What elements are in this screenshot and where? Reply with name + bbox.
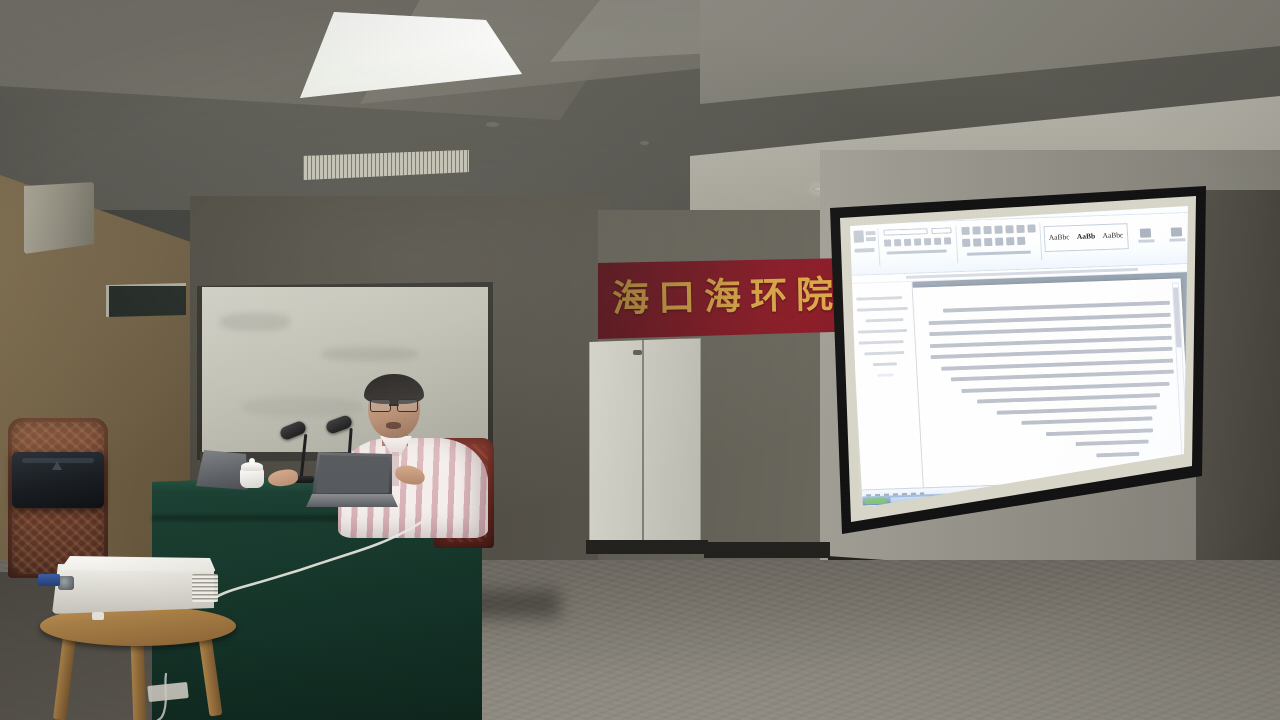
wall-far-right-dark	[1196, 190, 1280, 610]
smoke-detector-icon	[640, 141, 649, 145]
door-knob[interactable]	[633, 350, 642, 355]
ribbon-group-clipboard[interactable]	[849, 228, 880, 267]
style-item[interactable]: AaBbc	[1049, 233, 1070, 244]
navigation-pane[interactable]	[850, 282, 923, 490]
style-name	[1077, 242, 1095, 243]
ribbon-group-editing[interactable]	[1131, 219, 1191, 251]
wall-speaker	[24, 182, 94, 254]
wooden-stool	[40, 606, 236, 720]
style-item[interactable]: AaBbc	[1102, 231, 1123, 242]
system-tray[interactable]	[1173, 486, 1203, 493]
projector-vent	[192, 574, 218, 602]
conference-room-photo: 海口海环院环 境	[0, 0, 1280, 720]
laptop-bag	[12, 452, 104, 508]
word-window: AaBbc AaBb AaBbc	[846, 194, 1206, 506]
baseboard	[704, 542, 830, 558]
style-name	[1049, 243, 1070, 244]
select-button[interactable]	[1162, 219, 1191, 250]
projector-lens	[58, 576, 74, 590]
smoke-detector-icon	[486, 122, 499, 127]
document-workspace	[850, 272, 1205, 490]
zoom-slider[interactable]	[1166, 483, 1200, 488]
ribbon-group-paragraph[interactable]	[959, 222, 1042, 263]
document-page[interactable]	[913, 278, 1192, 487]
projection-screen: AaBbc AaBb AaBbc	[816, 186, 1206, 534]
style-name	[1103, 241, 1124, 242]
style-preview: AaBbc	[1048, 232, 1069, 242]
styles-gallery[interactable]: AaBbc AaBb AaBbc	[1043, 223, 1128, 252]
ribbon-group-font[interactable]	[879, 225, 958, 266]
style-preview: AaBbc	[1102, 230, 1123, 240]
projector	[52, 556, 222, 618]
start-button[interactable]	[864, 497, 886, 504]
style-preview: AaBb	[1077, 231, 1096, 241]
presenter-mouth	[386, 422, 401, 429]
vga-connector	[38, 574, 60, 586]
teacup	[239, 458, 265, 488]
folding-partition-door[interactable]	[589, 338, 701, 548]
style-item[interactable]: AaBb	[1077, 232, 1096, 243]
baseboard	[586, 540, 708, 554]
find-button[interactable]	[1131, 220, 1160, 251]
eyeglasses-icon	[370, 399, 418, 410]
